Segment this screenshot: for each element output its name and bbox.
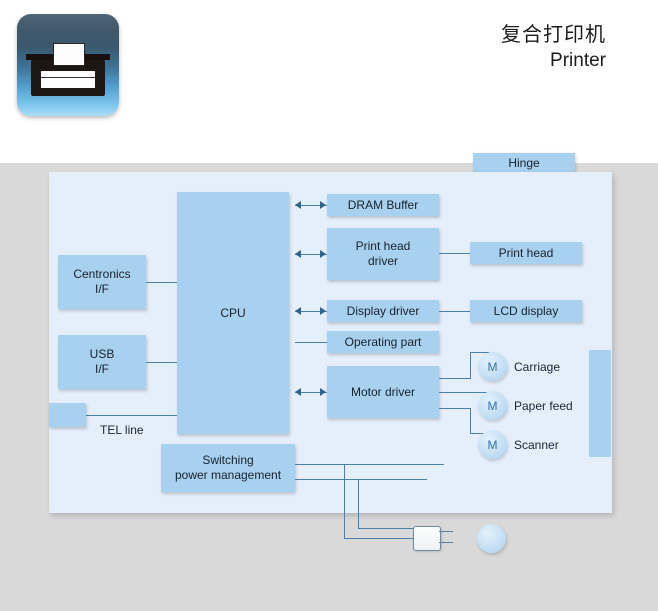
line-power-cord-right-h	[358, 528, 414, 529]
arrow-cpu-to-dd-left	[295, 307, 301, 315]
block-print-head-driver: Print head driver	[327, 228, 439, 280]
line-power-rail-top	[295, 464, 444, 465]
page-title: 复合打印机 Printer	[501, 22, 606, 73]
motor-paper-feed: M	[478, 391, 507, 420]
power-plug-prong-top	[439, 531, 453, 532]
block-lcd-display-label: LCD display	[494, 304, 559, 318]
motor-scanner-label: Scanner	[514, 438, 559, 452]
line-display-driver-to-lcd	[439, 311, 470, 312]
block-switching-power-management: Switching power management	[161, 444, 295, 492]
motor-paper-feed-label: Paper feed	[514, 399, 573, 413]
block-usb-if: USB I/F	[58, 335, 146, 389]
page-title-english: Printer	[501, 48, 606, 73]
motor-scanner: M	[478, 430, 507, 459]
line-power-cord-right-v	[358, 479, 359, 528]
motor-paper-feed-symbol: M	[488, 399, 498, 413]
page-title-chinese: 复合打印机	[501, 22, 606, 48]
printer-block-diagram: Centronics I/F USB I/F CPU DRAM Buffer P…	[49, 172, 612, 513]
arrow-cpu-to-dd-right	[320, 307, 326, 315]
motor-carriage-symbol: M	[488, 360, 498, 374]
arrow-cpu-to-md-left	[295, 388, 301, 396]
arrow-cpu-to-dram-left	[295, 201, 301, 209]
block-print-head-driver-line2: driver	[356, 254, 411, 269]
motor-scanner-symbol: M	[488, 438, 498, 452]
motor-carriage-label: Carriage	[514, 360, 560, 374]
block-dram-buffer: DRAM Buffer	[327, 194, 439, 216]
line-centronics-to-cpu	[146, 282, 177, 283]
block-centronics-if: Centronics I/F	[58, 255, 146, 309]
block-usb-if-line1: USB	[90, 347, 115, 362]
block-cpu-label: CPU	[220, 306, 245, 320]
line-phd-to-print-head	[439, 253, 470, 254]
arrow-cpu-to-dram-right	[320, 201, 326, 209]
printer-icon-output-paper	[41, 71, 95, 88]
block-display-driver-label: Display driver	[347, 304, 420, 318]
line-md-to-paperfeed	[439, 392, 490, 393]
line-md-to-carriage-h	[439, 378, 471, 379]
line-md-to-scanner-h	[439, 408, 471, 409]
block-centronics-if-line1: Centronics	[73, 267, 130, 282]
arrow-cpu-to-phd-left	[295, 250, 301, 258]
block-usb-if-line2: I/F	[90, 362, 115, 377]
block-motor-driver: Motor driver	[327, 366, 439, 418]
line-power-cord-left-v	[344, 464, 345, 538]
block-hinge: Hinge	[473, 153, 575, 173]
block-print-head-label: Print head	[499, 246, 554, 260]
power-plug	[413, 526, 441, 551]
printer-icon-paper-tray	[53, 43, 85, 66]
line-md-to-scanner-v	[470, 408, 471, 433]
line-cpu-to-operating-part	[295, 342, 327, 343]
motor-carriage: M	[478, 352, 507, 381]
block-dram-buffer-label: DRAM Buffer	[348, 198, 418, 212]
block-operating-part: Operating part	[327, 331, 439, 353]
power-plug-prong-bottom	[439, 542, 453, 543]
line-md-to-carriage-v	[470, 352, 471, 379]
line-power-cord-left-h	[344, 538, 414, 539]
line-usb-to-cpu	[146, 362, 177, 363]
label-tel-line: TEL line	[100, 423, 144, 437]
arrow-cpu-to-phd-right	[320, 250, 326, 258]
block-hinge-label: Hinge	[508, 156, 539, 170]
block-switching-power-line1: Switching	[175, 453, 281, 468]
block-lcd-display: LCD display	[470, 300, 582, 322]
arrow-cpu-to-md-right	[320, 388, 326, 396]
printer-app-icon	[17, 14, 119, 116]
block-print-head-driver-line1: Print head	[356, 239, 411, 254]
block-switching-power-line2: power management	[175, 468, 281, 483]
block-tel-port	[49, 403, 86, 427]
block-centronics-if-line2: I/F	[73, 282, 130, 297]
line-power-rail-bottom	[295, 479, 427, 480]
block-display-driver: Display driver	[327, 300, 439, 322]
block-operating-part-label: Operating part	[345, 335, 422, 349]
block-motor-driver-label: Motor driver	[351, 385, 415, 399]
block-cpu: CPU	[177, 192, 289, 434]
line-tel-to-cpu	[86, 415, 177, 416]
block-right-edge-bar	[589, 350, 611, 457]
block-print-head: Print head	[470, 242, 582, 264]
